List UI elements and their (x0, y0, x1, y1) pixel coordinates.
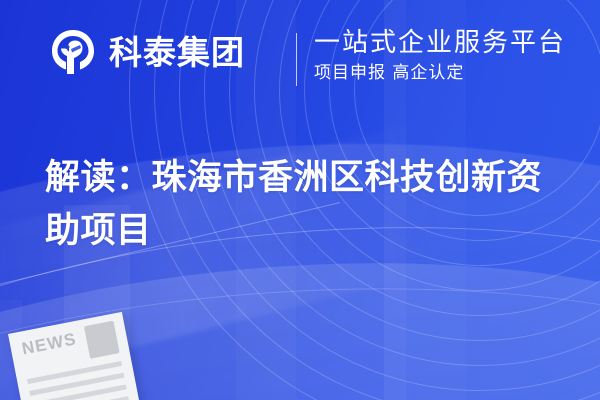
newspaper-heading: NEWS (20, 329, 78, 359)
tagline-main: 一站式企业服务平台 (314, 28, 566, 59)
banner-header: 科泰集团 一站式企业服务平台 项目申报 高企认定 (0, 0, 600, 118)
header-divider (296, 33, 297, 86)
page-title: 解读：珠海市香洲区科技创新资 助项目 (45, 152, 565, 258)
newspaper-image-block (84, 321, 120, 359)
tagline-sub: 项目申报 高企认定 (314, 63, 566, 83)
page-title-line-1: 解读：珠海市香洲区科技创新资 (45, 152, 565, 205)
brand-name: 科泰集团 (109, 36, 245, 69)
brand-logo[interactable]: 科泰集团 (48, 27, 245, 77)
keta-circle-logo-icon (48, 27, 98, 77)
promo-banner: 科泰集团 一站式企业服务平台 项目申报 高企认定 解读：珠海市香洲区科技创新资 … (0, 0, 600, 400)
header-tagline: 一站式企业服务平台 项目申报 高企认定 (314, 28, 566, 84)
page-title-line-2: 助项目 (45, 205, 565, 258)
